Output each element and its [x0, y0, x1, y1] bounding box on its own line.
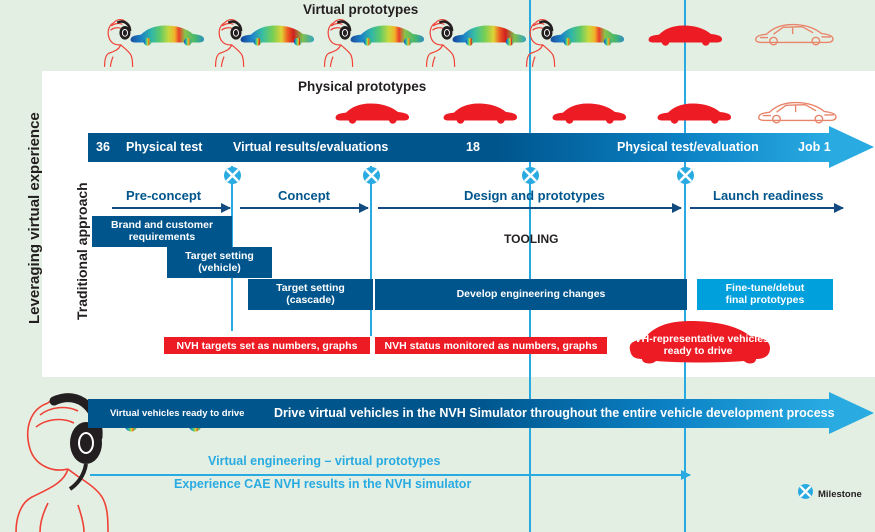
timeline-physical-test: Physical test	[126, 133, 202, 162]
heading-virtual-prototypes: Virtual prototypes	[303, 2, 418, 17]
phase-arrow-design	[378, 207, 681, 209]
tooling-label: TOOLING	[504, 232, 558, 246]
task-line: Brand and customer	[111, 219, 213, 231]
virtual-engineering-arrow	[90, 474, 690, 476]
nvh-simulator-arrowhead	[829, 392, 874, 434]
timeline-virtual-results: Virtual results/evaluations	[233, 133, 388, 162]
guide-line-launch	[684, 0, 686, 532]
nvh-representative-vehicles-blob: NVH-representative vehicles ready to dri…	[620, 318, 776, 368]
red-vehicle-top-1	[649, 26, 722, 46]
task-target-setting-vehicle: Target setting (vehicle)	[167, 247, 272, 278]
nvh-targets-bar: NVH targets set as numbers, graphs	[164, 337, 370, 354]
phase-label-pre-concept: Pre-concept	[126, 188, 201, 203]
diagram-root: Virtual prototypes Physical prototypes L…	[0, 0, 875, 532]
phase-label-launch: Launch readiness	[713, 188, 824, 203]
milestone-icon-4[interactable]	[677, 167, 694, 184]
physical-prototypes-row	[0, 96, 875, 134]
milestone-legend-icon	[798, 484, 813, 504]
side-label-leveraging: Leveraging virtual experience	[26, 112, 43, 324]
legend-milestone-label: Milestone	[818, 489, 862, 500]
guide-line-concept	[370, 166, 372, 336]
red-vehicle-2	[444, 104, 517, 124]
phase-arrow-pre-concept	[112, 207, 230, 209]
task-target-setting-cascade: Target setting (cascade)	[248, 279, 373, 310]
side-label-traditional: Traditional approach	[74, 182, 90, 320]
red-vehicle-1	[336, 104, 409, 124]
task-line: Develop engineering changes	[457, 289, 606, 301]
cae-vehicle-5	[551, 26, 624, 46]
guide-line-tooling	[529, 0, 531, 532]
nvh-blob-line-1: NVH-representative vehicles	[627, 333, 769, 345]
person-with-headphones-5	[527, 20, 555, 67]
task-line: (cascade)	[286, 294, 334, 306]
task-brand-requirements: Brand and customer requirements	[92, 216, 232, 247]
timeline-month-18: 18	[466, 133, 480, 162]
cae-vehicle-3	[351, 26, 424, 46]
phase-label-design: Design and prototypes	[464, 188, 605, 203]
cae-vehicle-1	[131, 26, 204, 46]
phase-label-concept: Concept	[278, 188, 330, 203]
timeline-physical-test-eval: Physical test/evaluation	[617, 133, 759, 162]
person-with-headphones-4	[427, 20, 455, 67]
virtual-vehicles-ready-label: Virtual vehicles ready to drive	[110, 399, 244, 428]
milestone-icon-1[interactable]	[224, 167, 241, 184]
milestone-icon-3[interactable]	[522, 167, 539, 184]
task-line: (vehicle)	[198, 262, 241, 274]
phase-arrow-concept	[240, 207, 368, 209]
outline-vehicle-top-1	[756, 25, 833, 45]
legend: Milestone	[798, 484, 862, 504]
experience-cae-label: Experience CAE NVH results in the NVH si…	[174, 477, 471, 491]
task-line: Target setting	[185, 250, 254, 262]
timeline-arrowhead	[829, 126, 874, 168]
task-line: Fine-tune/debut	[726, 282, 805, 294]
task-fine-tune-debut: Fine-tune/debut final prototypes	[697, 279, 833, 310]
task-line: requirements	[129, 231, 196, 243]
virtual-engineering-label: Virtual engineering – virtual prototypes	[208, 454, 440, 468]
heading-physical-prototypes: Physical prototypes	[298, 79, 426, 94]
cae-vehicle-2	[241, 26, 314, 46]
main-timeline-arrow: 36 Physical test Virtual results/evaluat…	[88, 133, 875, 162]
person-with-headphones-2	[216, 20, 244, 67]
task-line: Target setting	[276, 282, 345, 294]
task-line: final prototypes	[726, 294, 805, 306]
red-vehicle-3	[553, 104, 626, 124]
person-with-headphones-1	[105, 20, 133, 67]
timeline-job1: Job 1	[798, 133, 831, 162]
nvh-simulator-text: Drive virtual vehicles in the NVH Simula…	[274, 399, 835, 428]
nvh-blob-line-2: ready to drive	[664, 345, 733, 357]
virtual-prototypes-row	[0, 0, 875, 70]
person-with-headphones-3	[325, 20, 353, 67]
timeline-month-36: 36	[96, 133, 110, 162]
nvh-status-bar: NVH status monitored as numbers, graphs	[375, 337, 607, 354]
task-develop-engineering-changes: Develop engineering changes	[375, 279, 687, 310]
red-vehicle-4	[658, 104, 731, 124]
milestone-icon-2[interactable]	[363, 167, 380, 184]
outline-vehicle-1	[759, 103, 836, 123]
cae-vehicle-4	[453, 26, 526, 46]
phase-arrow-launch	[690, 207, 843, 209]
